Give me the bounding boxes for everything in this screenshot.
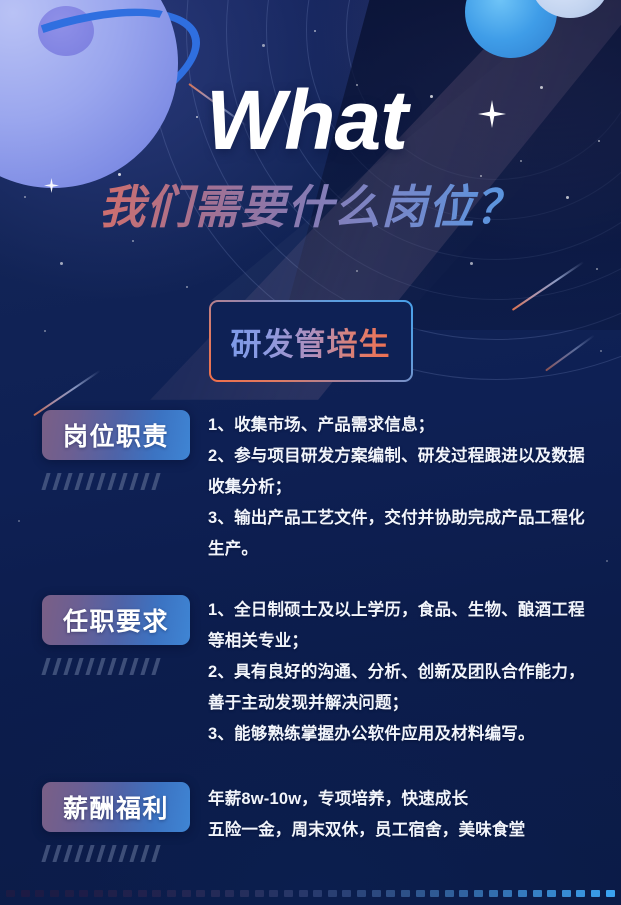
bottom-dash xyxy=(123,890,132,897)
bottom-dash xyxy=(430,890,439,897)
pale-sphere-decoration xyxy=(531,0,609,18)
star-dot xyxy=(60,262,63,265)
bottom-dash xyxy=(79,890,88,897)
badge-label: 薪酬福利 xyxy=(63,789,169,825)
bottom-dash xyxy=(182,890,191,897)
bottom-dash xyxy=(138,890,147,897)
star-dot xyxy=(356,270,358,272)
badge-column: 任职要求 xyxy=(42,595,190,675)
bottom-dash xyxy=(518,890,527,897)
benefits-body: 年薪8w-10w，专项培养，快速成长 五险一金，周末双休，员工宿舍，美味食堂 xyxy=(208,784,598,846)
list-item: 1、全日制硕士及以上学历，食品、生物、酿酒工程等相关专业； xyxy=(208,595,598,657)
bottom-dash xyxy=(313,890,322,897)
star-dot xyxy=(480,175,482,177)
headline-english: What xyxy=(206,78,415,162)
bottom-dash xyxy=(328,890,337,897)
bottom-dash xyxy=(372,890,381,897)
badge-column: 薪酬福利 xyxy=(42,782,190,862)
list-item: 3、输出产品工艺文件，交付并协助完成产品工程化生产。 xyxy=(208,503,598,565)
badge-responsibilities: 岗位职责 xyxy=(42,410,190,460)
bottom-dash xyxy=(94,890,103,897)
bottom-dash xyxy=(591,890,600,897)
recruitment-poster: What 我们需要什么岗位？ 研发管培生 岗位职责 1、收集市场、产品需求信息；… xyxy=(0,0,621,905)
bottom-dash xyxy=(269,890,278,897)
list-item: 3、能够熟练掌握办公软件应用及材料编写。 xyxy=(208,719,598,750)
star-dot xyxy=(600,350,602,352)
bottom-dash xyxy=(167,890,176,897)
shooting-star-icon xyxy=(545,335,595,372)
requirements-body: 1、全日制硕士及以上学历，食品、生物、酿酒工程等相关专业； 2、具有良好的沟通、… xyxy=(208,595,598,750)
star-dot xyxy=(314,30,316,32)
bottom-dash xyxy=(576,890,585,897)
bottom-dash xyxy=(152,890,161,897)
bottom-dash xyxy=(401,890,410,897)
bottom-dash xyxy=(35,890,44,897)
star-dot xyxy=(132,240,134,242)
star-dot xyxy=(118,173,121,176)
star-dot xyxy=(44,330,46,332)
bottom-dash xyxy=(357,890,366,897)
star-dot xyxy=(262,44,265,47)
badge-requirements: 任职要求 xyxy=(42,595,190,645)
bottom-dash xyxy=(196,890,205,897)
bottom-dash xyxy=(416,890,425,897)
star-dot xyxy=(606,560,608,562)
list-item: 五险一金，周末双休，员工宿舍，美味食堂 xyxy=(208,815,598,846)
headline-block: What xyxy=(0,78,621,162)
responsibilities-body: 1、收集市场、产品需求信息； 2、参与项目研发方案编制、研发过程跟进以及数据收集… xyxy=(208,410,598,565)
job-title-box-inner: 研发管培生 xyxy=(211,302,411,380)
badge-benefits: 薪酬福利 xyxy=(42,782,190,832)
bottom-dash xyxy=(108,890,117,897)
star-dot xyxy=(470,262,473,265)
bottom-dash xyxy=(211,890,220,897)
star-dot xyxy=(18,520,20,522)
headline-chinese: 我们需要什么岗位？ xyxy=(0,182,621,233)
badge-column: 岗位职责 xyxy=(42,410,190,490)
list-item: 1、收集市场、产品需求信息； xyxy=(208,410,598,441)
star-dot xyxy=(596,268,598,270)
bottom-dash xyxy=(255,890,264,897)
bottom-dash xyxy=(606,890,615,897)
bottom-dash xyxy=(459,890,468,897)
bottom-dash xyxy=(284,890,293,897)
bottom-dash xyxy=(489,890,498,897)
bottom-dash-rule-decoration xyxy=(0,889,621,897)
bottom-dash xyxy=(386,890,395,897)
badge-label: 岗位职责 xyxy=(63,417,169,453)
shooting-star-icon xyxy=(512,261,584,311)
planet-crater-icon xyxy=(38,6,94,56)
bottom-dash xyxy=(342,890,351,897)
bottom-dash xyxy=(503,890,512,897)
bottom-dash xyxy=(474,890,483,897)
bottom-dash xyxy=(65,890,74,897)
star-dot xyxy=(186,286,188,288)
bottom-dash xyxy=(21,890,30,897)
bottom-dash xyxy=(445,890,454,897)
hash-marks-decoration xyxy=(44,658,190,675)
job-title-box: 研发管培生 xyxy=(209,300,413,382)
bottom-dash xyxy=(225,890,234,897)
bottom-dash xyxy=(533,890,542,897)
badge-label: 任职要求 xyxy=(63,602,169,638)
list-item: 2、参与项目研发方案编制、研发过程跟进以及数据收集分析； xyxy=(208,441,598,503)
bottom-dash xyxy=(50,890,59,897)
bottom-dash xyxy=(6,890,15,897)
hash-marks-decoration xyxy=(44,845,190,862)
list-item: 年薪8w-10w，专项培养，快速成长 xyxy=(208,784,598,815)
job-title-text: 研发管培生 xyxy=(231,319,391,364)
bottom-dash xyxy=(299,890,308,897)
hash-marks-decoration xyxy=(44,473,190,490)
bottom-dash xyxy=(547,890,556,897)
bottom-dash xyxy=(562,890,571,897)
blue-sphere-decoration xyxy=(465,0,557,58)
bottom-dash xyxy=(240,890,249,897)
list-item: 2、具有良好的沟通、分析、创新及团队合作能力，善于主动发现并解决问题； xyxy=(208,657,598,719)
